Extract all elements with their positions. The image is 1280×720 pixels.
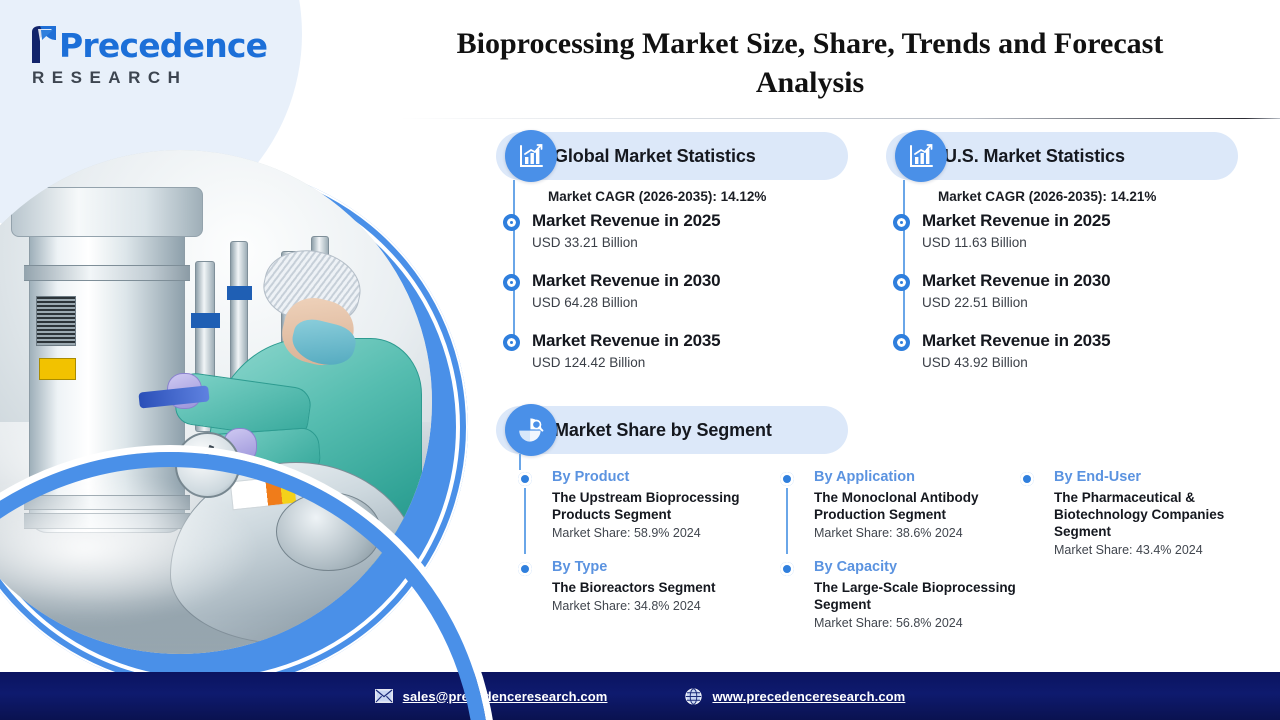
segment-dot-icon	[518, 562, 532, 576]
us-stats-column: U.S. Market Statistics Market CAGR (2026…	[886, 132, 1238, 390]
segment-column-2: By Application The Monoclonal Antibody P…	[780, 468, 1020, 648]
revenue-year-label: Market Revenue in 2030	[922, 270, 1238, 292]
segment-leader-name: The Upstream Bioprocessing Products Segm…	[552, 489, 780, 523]
list-item: Market Revenue in 2030 USD 64.28 Billion	[532, 270, 848, 330]
timeline-dot-icon	[893, 214, 910, 231]
revenue-value: USD 22.51 Billion	[922, 293, 1238, 313]
list-item: By Product The Upstream Bioprocessing Pr…	[518, 468, 780, 542]
revenue-value: USD 33.21 Billion	[532, 233, 848, 253]
list-item: By End-User The Pharmaceutical & Biotech…	[1020, 468, 1270, 559]
segment-share-value: Market Share: 38.6% 2024	[814, 524, 1020, 542]
timeline-dot-icon	[503, 274, 520, 291]
precedence-leaf-mark-icon	[28, 24, 62, 64]
logo-wordmark-text: Precedence	[59, 26, 267, 65]
us-cagr: Market CAGR (2026-2035): 14.21%	[886, 184, 1238, 210]
list-item: Market Revenue in 2025 USD 11.63 Billion	[922, 210, 1238, 270]
segment-dot-icon	[780, 562, 794, 576]
segment-section: Market Share by Segment By Product The U…	[496, 406, 1280, 648]
list-item: By Capacity The Large-Scale Bioprocessin…	[780, 558, 1020, 632]
us-stats-header: U.S. Market Statistics	[886, 132, 1238, 180]
segment-column-3: By End-User The Pharmaceutical & Biotech…	[1020, 468, 1270, 648]
list-item: By Application The Monoclonal Antibody P…	[780, 468, 1020, 542]
global-stats-column: Global Market Statistics Market CAGR (20…	[496, 132, 848, 390]
footer-website-link[interactable]: www.precedenceresearch.com	[685, 688, 905, 705]
page-title: Bioprocessing Market Size, Share, Trends…	[410, 24, 1210, 102]
list-item: Market Revenue in 2025 USD 33.21 Billion	[532, 210, 848, 270]
revenue-year-label: Market Revenue in 2035	[922, 330, 1238, 352]
revenue-value: USD 11.63 Billion	[922, 233, 1238, 253]
segment-leader-name: The Pharmaceutical & Biotechnology Compa…	[1054, 489, 1270, 540]
global-stats-title: Global Market Statistics	[554, 146, 756, 167]
bar-chart-growth-icon	[505, 130, 557, 182]
timeline-dot-icon	[893, 334, 910, 351]
logo-subtitle: RESEARCH	[32, 68, 268, 88]
segment-dot-icon	[518, 472, 532, 486]
revenue-year-label: Market Revenue in 2030	[532, 270, 848, 292]
us-timeline: Market Revenue in 2025 USD 11.63 Billion…	[886, 210, 1238, 390]
segment-leader-name: The Bioreactors Segment	[552, 579, 780, 596]
revenue-year-label: Market Revenue in 2025	[532, 210, 848, 232]
segment-leader-name: The Monoclonal Antibody Production Segme…	[814, 489, 1020, 523]
global-timeline: Market Revenue in 2025 USD 33.21 Billion…	[496, 210, 848, 390]
segment-connector-line	[524, 488, 526, 554]
bar-chart-growth-icon	[895, 130, 947, 182]
segment-share-value: Market Share: 58.9% 2024	[552, 524, 780, 542]
timeline-dot-icon	[503, 334, 520, 351]
revenue-value: USD 124.42 Billion	[532, 353, 848, 373]
segment-grid: By Product The Upstream Bioprocessing Pr…	[496, 468, 1280, 648]
us-stats-title: U.S. Market Statistics	[944, 146, 1125, 167]
revenue-value: USD 64.28 Billion	[532, 293, 848, 313]
stats-content: Global Market Statistics Market CAGR (20…	[496, 132, 1280, 648]
globe-icon	[685, 688, 702, 705]
segment-dot-icon	[780, 472, 794, 486]
segment-dot-icon	[1020, 472, 1034, 486]
footer-website-text: www.precedenceresearch.com	[712, 689, 905, 704]
segment-header: Market Share by Segment	[496, 406, 848, 454]
revenue-year-label: Market Revenue in 2025	[922, 210, 1238, 232]
logo-wordmark: Precedence	[59, 28, 267, 64]
segment-dimension-label: By Capacity	[814, 558, 1020, 577]
brand-logo[interactable]: Precedence RESEARCH	[28, 22, 268, 88]
segment-title: Market Share by Segment	[554, 420, 772, 441]
revenue-value: USD 43.92 Billion	[922, 353, 1238, 373]
global-cagr: Market CAGR (2026-2035): 14.12%	[496, 184, 848, 210]
segment-connector-line	[786, 488, 788, 554]
timeline-dot-icon	[503, 214, 520, 231]
list-item: Market Revenue in 2035 USD 124.42 Billio…	[532, 330, 848, 390]
infographic-page: Precedence RESEARCH Bioprocessing Market…	[0, 0, 1280, 720]
segment-dimension-label: By Application	[814, 468, 1020, 487]
segment-share-value: Market Share: 34.8% 2024	[552, 597, 780, 615]
pie-chart-search-icon	[505, 404, 557, 456]
list-item: Market Revenue in 2030 USD 22.51 Billion	[922, 270, 1238, 330]
segment-dimension-label: By Type	[552, 558, 780, 577]
timeline-dot-icon	[893, 274, 910, 291]
revenue-year-label: Market Revenue in 2035	[532, 330, 848, 352]
segment-dimension-label: By End-User	[1054, 468, 1270, 487]
list-item: By Type The Bioreactors Segment Market S…	[518, 558, 780, 615]
global-stats-header: Global Market Statistics	[496, 132, 848, 180]
header-divider	[400, 118, 1280, 119]
segment-column-1: By Product The Upstream Bioprocessing Pr…	[518, 468, 780, 648]
segment-share-value: Market Share: 56.8% 2024	[814, 614, 1020, 632]
segment-dimension-label: By Product	[552, 468, 780, 487]
segment-share-value: Market Share: 43.4% 2024	[1054, 541, 1270, 559]
segment-leader-name: The Large-Scale Bioprocessing Segment	[814, 579, 1020, 613]
list-item: Market Revenue in 2035 USD 43.92 Billion	[922, 330, 1238, 390]
stats-columns: Global Market Statistics Market CAGR (20…	[496, 132, 1280, 390]
